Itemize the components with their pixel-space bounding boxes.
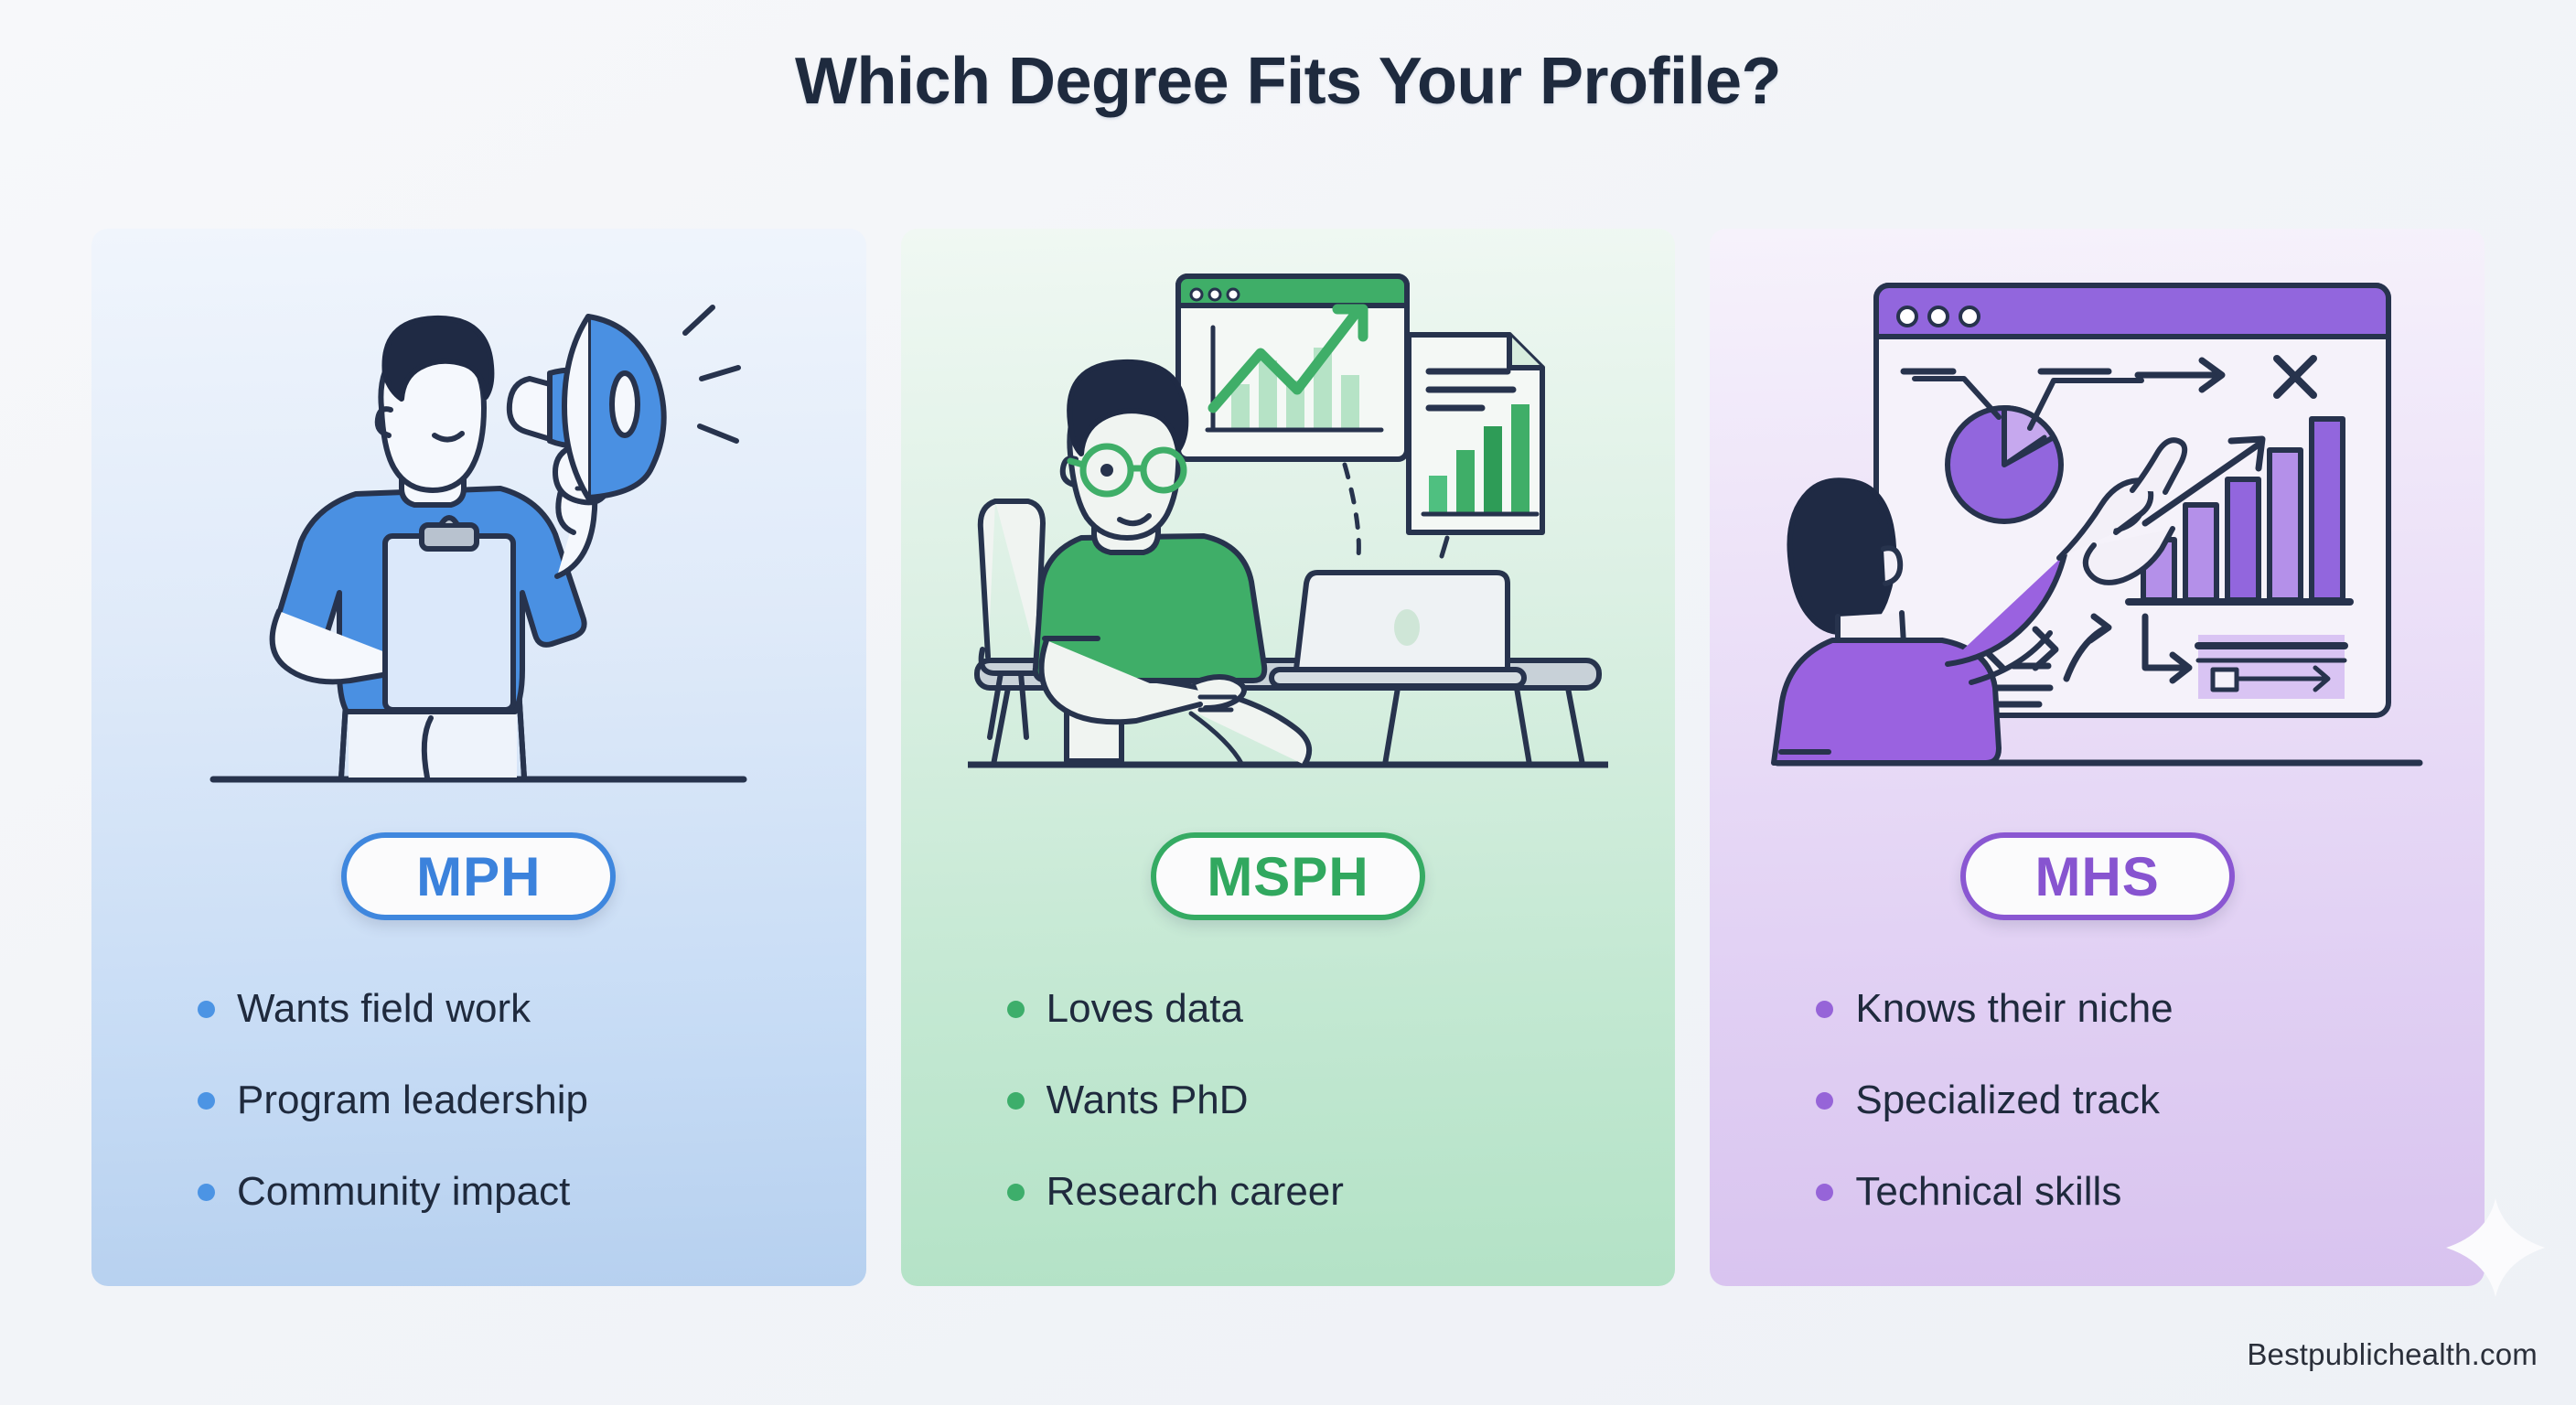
- degree-badge-label: MPH: [416, 845, 541, 908]
- bullet-dot-icon: [1816, 1184, 1833, 1201]
- degree-badge-msph[interactable]: MSPH: [1151, 832, 1425, 920]
- bullet-dot-icon: [1816, 1001, 1833, 1018]
- progress-widget-icon: [2198, 635, 2345, 699]
- feature-list-mhs: Knows their niche Specialized track Tech…: [1710, 986, 2485, 1215]
- bullet-dot-icon: [1816, 1092, 1833, 1110]
- illustration-researcher-at-laptop-with-charts: [901, 229, 1676, 814]
- degree-badge-label: MSPH: [1207, 845, 1368, 908]
- degree-card-msph[interactable]: MSPH Loves data Wants PhD Research caree…: [901, 229, 1676, 1286]
- infographic-canvas: Which Degree Fits Your Profile?: [0, 0, 2576, 1405]
- bullet-dot-icon: [198, 1184, 215, 1201]
- degree-card-mph[interactable]: MPH Wants field work Program leadership …: [91, 229, 866, 1286]
- list-item-label: Loves data: [1046, 986, 1243, 1032]
- laptop-icon: [1272, 573, 1524, 686]
- degree-badge-mph[interactable]: MPH: [341, 832, 616, 920]
- list-item: Program leadership: [198, 1078, 866, 1123]
- document-icon: [1409, 335, 1542, 532]
- degree-badge-mhs[interactable]: MHS: [1960, 832, 2235, 920]
- list-item: Knows their niche: [1816, 986, 2485, 1032]
- hair-icon: [1789, 480, 1894, 632]
- sound-lines-icon: [685, 307, 738, 441]
- list-item: Specialized track: [1816, 1078, 2485, 1123]
- megaphone-scene-svg: [195, 265, 762, 814]
- bullet-dot-icon: [1007, 1184, 1025, 1201]
- list-item-label: Program leadership: [237, 1078, 588, 1123]
- list-item-label: Technical skills: [1855, 1169, 2121, 1215]
- list-item-label: Research career: [1046, 1169, 1344, 1215]
- list-item: Wants field work: [198, 986, 866, 1032]
- browser-window-icon: [1178, 276, 1407, 459]
- bullet-dot-icon: [198, 1092, 215, 1110]
- clipboard-icon: [385, 518, 513, 710]
- list-item-label: Community impact: [237, 1169, 570, 1215]
- bullet-dot-icon: [1007, 1092, 1025, 1110]
- megaphone-icon: [510, 316, 664, 498]
- list-item-label: Knows their niche: [1855, 986, 2173, 1032]
- dashboard-scene-svg: [1768, 247, 2427, 814]
- degree-badge-label: MHS: [2035, 845, 2160, 908]
- list-item: Technical skills: [1816, 1169, 2485, 1215]
- bullet-dot-icon: [1007, 1001, 1025, 1018]
- footer-watermark: Bestpublichealth.com: [2247, 1337, 2538, 1372]
- bullet-dot-icon: [198, 1001, 215, 1018]
- illustration-person-with-megaphone-and-clipboard: [91, 229, 866, 814]
- degree-card-row: MPH Wants field work Program leadership …: [91, 229, 2485, 1286]
- list-item-label: Wants PhD: [1046, 1078, 1249, 1123]
- page-title: Which Degree Fits Your Profile?: [0, 44, 2576, 119]
- feature-list-mph: Wants field work Program leadership Comm…: [91, 986, 866, 1215]
- degree-card-mhs[interactable]: MHS Knows their niche Specialized track …: [1710, 229, 2485, 1286]
- illustration-person-presenting-dashboard: [1710, 229, 2485, 814]
- list-item: Wants PhD: [1007, 1078, 1676, 1123]
- sparkle-icon: [2446, 1198, 2545, 1297]
- feature-list-msph: Loves data Wants PhD Research career: [901, 986, 1676, 1215]
- list-item: Community impact: [198, 1169, 866, 1215]
- list-item: Loves data: [1007, 986, 1676, 1032]
- list-item-label: Wants field work: [237, 986, 531, 1032]
- list-item-label: Specialized track: [1855, 1078, 2160, 1123]
- research-scene-svg: [968, 247, 1608, 814]
- list-item: Research career: [1007, 1169, 1676, 1215]
